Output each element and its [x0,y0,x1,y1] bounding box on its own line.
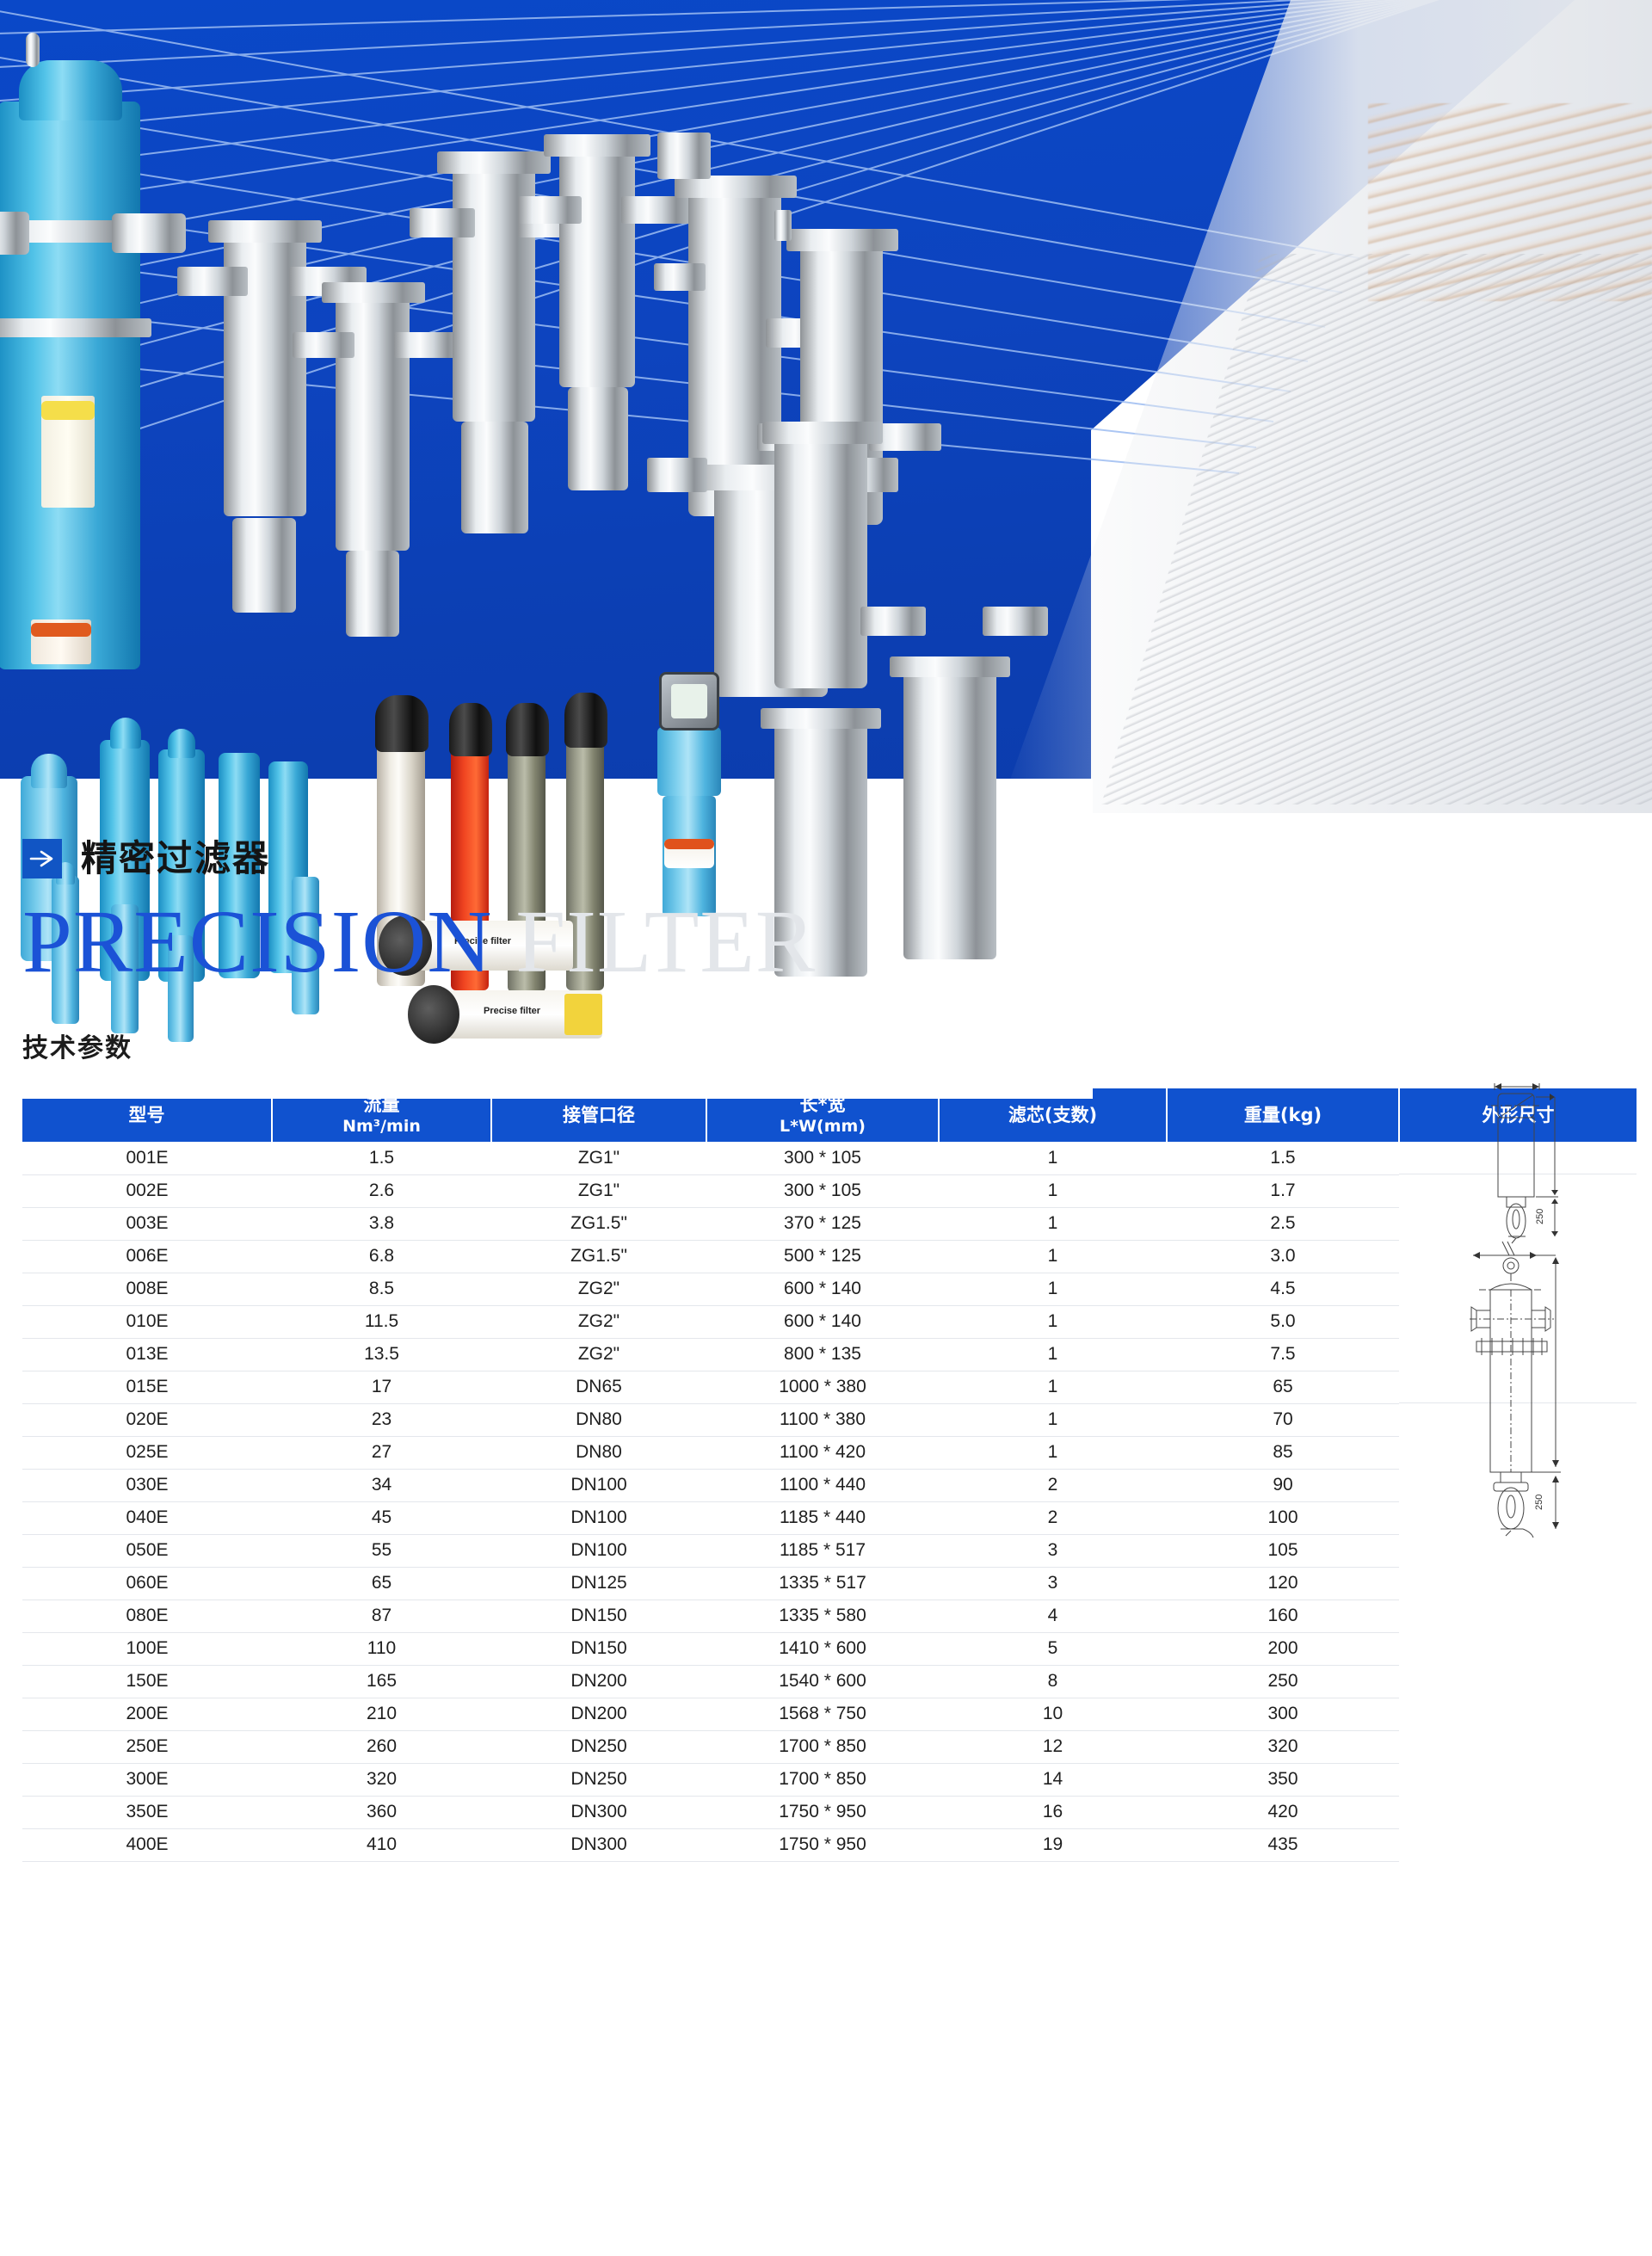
cell-port: DN125 [491,1567,706,1600]
cell-lw: 1540 * 600 [706,1665,939,1698]
svg-text:250: 250 [1535,1208,1545,1224]
cell-core: 2 [939,1469,1167,1501]
cell-weight: 1.7 [1167,1174,1399,1207]
cell-core: 19 [939,1828,1167,1861]
cell-core: 1 [939,1142,1167,1174]
cell-lw: 1100 * 380 [706,1403,939,1436]
cell-weight: 350 [1167,1763,1399,1796]
page-title-chinese: 精密过滤器 [81,841,270,877]
cell-model: 150E [22,1665,272,1698]
table-row: 060E65DN1251335 * 5173120 [22,1567,1637,1600]
cell-model: 025E [22,1436,272,1469]
cell-flow: 2.6 [272,1174,491,1207]
table-row: 350E360DN3001750 * 95016420 [22,1796,1637,1828]
cell-flow: 11.5 [272,1305,491,1338]
cell-weight: 90 [1167,1469,1399,1501]
cell-lw: 1335 * 580 [706,1600,939,1632]
cell-port: DN200 [491,1698,706,1730]
cell-model: 350E [22,1796,272,1828]
cell-flow: 320 [272,1763,491,1796]
cell-weight: 200 [1167,1632,1399,1665]
cell-lw: 1568 * 750 [706,1698,939,1730]
cell-port: ZG1.5" [491,1240,706,1273]
table-row: 300E320DN2501700 * 85014350 [22,1763,1637,1796]
cell-port: DN100 [491,1501,706,1534]
cell-port: ZG2" [491,1338,706,1371]
cell-lw: 1750 * 950 [706,1796,939,1828]
table-row: 025E27DN801100 * 420185 [22,1436,1637,1469]
cell-lw: 1100 * 420 [706,1436,939,1469]
cell-weight: 1.5 [1167,1142,1399,1174]
cell-core: 1 [939,1207,1167,1240]
cell-lw: 1100 * 440 [706,1469,939,1501]
cell-weight: 70 [1167,1403,1399,1436]
cell-lw: 300 * 105 [706,1142,939,1174]
cell-flow: 360 [272,1796,491,1828]
cell-weight: 160 [1167,1600,1399,1632]
cell-weight: 435 [1167,1828,1399,1861]
cell-model: 250E [22,1730,272,1763]
cell-model: 300E [22,1763,272,1796]
cell-flow: 34 [272,1469,491,1501]
cell-weight: 3.0 [1167,1240,1399,1273]
table-row: 003E3.8ZG1.5"370 * 12512.5 [22,1207,1637,1240]
cell-lw: 1700 * 850 [706,1730,939,1763]
large-flanged-filter-drawing: 250 [1440,1236,1595,1538]
cell-core: 5 [939,1632,1167,1665]
cell-lw: 300 * 105 [706,1174,939,1207]
cell-lw: 800 * 135 [706,1338,939,1371]
cell-model: 006E [22,1240,272,1273]
cell-flow: 210 [272,1698,491,1730]
spec-table-body: 001E1.5ZG1"300 * 10511.5 250 002E2.6ZG1"… [22,1142,1637,1861]
cell-lw: 1185 * 440 [706,1501,939,1534]
cell-port: DN100 [491,1469,706,1501]
cell-port: DN150 [491,1600,706,1632]
cell-lw: 1410 * 600 [706,1632,939,1665]
table-row: 013E13.5ZG2"800 * 13517.5 [22,1338,1637,1371]
cell-port: ZG2" [491,1305,706,1338]
cell-flow: 8.5 [272,1273,491,1305]
cell-core: 2 [939,1501,1167,1534]
spec-table-container: 型号 流量 Nm³/min 接管口径 长*宽 L*W(mm) 滤芯(支数) 重量 [0,1088,1652,1862]
table-row: 008E8.5ZG2"600 * 14014.5 [22,1273,1637,1305]
cell-weight: 300 [1167,1698,1399,1730]
table-row: 400E410DN3001750 * 95019435 [22,1828,1637,1861]
cell-model: 200E [22,1698,272,1730]
table-row: 001E1.5ZG1"300 * 10511.5 250 [22,1142,1637,1174]
column-header-weight: 重量(kg) [1167,1088,1399,1142]
cell-core: 1 [939,1403,1167,1436]
cell-lw: 500 * 125 [706,1240,939,1273]
cell-weight: 420 [1167,1796,1399,1828]
cell-flow: 45 [272,1501,491,1534]
cell-flow: 13.5 [272,1338,491,1371]
table-row: 250E260DN2501700 * 85012320 [22,1730,1637,1763]
section-label-tech-params: 技术参数 [22,1026,1652,1064]
cell-model: 040E [22,1501,272,1534]
table-row: 150E165DN2001540 * 6008250 [22,1665,1637,1698]
table-row: 002E2.6ZG1"300 * 10511.7 [22,1174,1637,1207]
cell-model: 015E [22,1371,272,1403]
cell-weight: 120 [1167,1567,1399,1600]
cell-port: ZG1" [491,1142,706,1174]
column-header-lw-unit: L*W(mm) [707,1117,938,1137]
table-row: 050E55DN1001185 * 5173105 [22,1534,1637,1567]
small-inline-filter-drawing: 250 [1453,1068,1582,1248]
cell-core: 1 [939,1305,1167,1338]
cell-lw: 1335 * 517 [706,1567,939,1600]
table-row: 020E23DN801100 * 380170 [22,1403,1637,1436]
page-title-english-primary: PRECISION [22,892,492,991]
cell-model: 080E [22,1600,272,1632]
cell-flow: 23 [272,1403,491,1436]
cell-model: 100E [22,1632,272,1665]
page-title-english: PRECISION FILTER [22,894,1652,990]
cell-weight: 5.0 [1167,1305,1399,1338]
cell-core: 1 [939,1338,1167,1371]
table-row: 100E110DN1501410 * 6005200 [22,1632,1637,1665]
cell-flow: 410 [272,1828,491,1861]
table-row: 030E34DN1001100 * 440290 [22,1469,1637,1501]
cell-weight: 4.5 [1167,1273,1399,1305]
cell-core: 8 [939,1665,1167,1698]
table-row: 006E6.8ZG1.5"500 * 12513.0 [22,1240,1637,1273]
cell-model: 020E [22,1403,272,1436]
cell-model: 010E [22,1305,272,1338]
chinese-title-row: 精密过滤器 [22,839,1652,878]
dimension-drawing-small: 250 [1399,1142,1637,1174]
cell-flow: 110 [272,1632,491,1665]
column-header-flow-unit: Nm³/min [273,1117,490,1137]
cell-lw: 1700 * 850 [706,1763,939,1796]
cell-weight: 65 [1167,1371,1399,1403]
cell-core: 1 [939,1371,1167,1403]
cell-model: 050E [22,1534,272,1567]
cell-weight: 2.5 [1167,1207,1399,1240]
cell-model: 008E [22,1273,272,1305]
cell-port: DN100 [491,1534,706,1567]
cell-core: 1 [939,1273,1167,1305]
cell-flow: 3.8 [272,1207,491,1240]
cell-flow: 6.8 [272,1240,491,1273]
cell-port: DN250 [491,1730,706,1763]
cell-weight: 85 [1167,1436,1399,1469]
cell-flow: 87 [272,1600,491,1632]
cell-lw: 370 * 125 [706,1207,939,1240]
cell-port: DN65 [491,1371,706,1403]
cell-weight: 7.5 [1167,1338,1399,1371]
cell-core: 3 [939,1534,1167,1567]
cell-flow: 65 [272,1567,491,1600]
table-row: 010E11.5ZG2"600 * 14015.0 [22,1305,1637,1338]
cell-model: 030E [22,1469,272,1501]
cell-port: ZG2" [491,1273,706,1305]
table-row: 080E87DN1501335 * 5804160 [22,1600,1637,1632]
svg-text:250: 250 [1534,1494,1544,1509]
cell-model: 400E [22,1828,272,1861]
cell-port: DN300 [491,1828,706,1861]
cell-core: 12 [939,1730,1167,1763]
cell-model: 060E [22,1567,272,1600]
page-title-english-secondary: FILTER [515,892,816,991]
cell-flow: 27 [272,1436,491,1469]
cell-weight: 100 [1167,1501,1399,1534]
bronze-tube-bundle-decoration [1368,103,1652,301]
cell-flow: 55 [272,1534,491,1567]
cell-flow: 165 [272,1665,491,1698]
cell-core: 3 [939,1567,1167,1600]
table-row: 015E17DN651000 * 380165 [22,1371,1637,1403]
cell-flow: 260 [272,1730,491,1763]
cell-flow: 17 [272,1371,491,1403]
cell-weight: 105 [1167,1534,1399,1567]
table-row: 040E45DN1001185 * 4402100 [22,1501,1637,1534]
cell-weight: 250 [1167,1665,1399,1698]
cell-port: DN250 [491,1763,706,1796]
cell-lw: 1750 * 950 [706,1828,939,1861]
cell-model: 003E [22,1207,272,1240]
cell-port: DN150 [491,1632,706,1665]
cell-model: 013E [22,1338,272,1371]
cell-weight: 320 [1167,1730,1399,1763]
cell-port: DN80 [491,1403,706,1436]
cell-core: 14 [939,1763,1167,1796]
cell-core: 10 [939,1698,1167,1730]
product-large-cyan-vessel [0,26,163,740]
cell-core: 1 [939,1174,1167,1207]
cell-core: 16 [939,1796,1167,1828]
table-row: 200E210DN2001568 * 75010300 [22,1698,1637,1730]
cell-port: DN80 [491,1436,706,1469]
title-block: 精密过滤器 PRECISION FILTER 技术参数 [0,839,1652,1064]
cell-lw: 600 * 140 [706,1273,939,1305]
cell-port: DN200 [491,1665,706,1698]
cell-port: DN300 [491,1796,706,1828]
cell-core: 1 [939,1436,1167,1469]
dimension-drawing-large: 250 [1399,1371,1637,1403]
cell-model: 001E [22,1142,272,1174]
cell-port: ZG1" [491,1174,706,1207]
cell-flow: 1.5 [272,1142,491,1174]
cell-lw: 1185 * 517 [706,1534,939,1567]
spec-table: 型号 流量 Nm³/min 接管口径 长*宽 L*W(mm) 滤芯(支数) 重量 [22,1088,1637,1862]
cell-core: 4 [939,1600,1167,1632]
cell-lw: 600 * 140 [706,1305,939,1338]
cell-port: ZG1.5" [491,1207,706,1240]
cell-lw: 1000 * 380 [706,1371,939,1403]
arrow-right-icon [22,839,62,878]
cell-core: 1 [939,1240,1167,1273]
cell-model: 002E [22,1174,272,1207]
